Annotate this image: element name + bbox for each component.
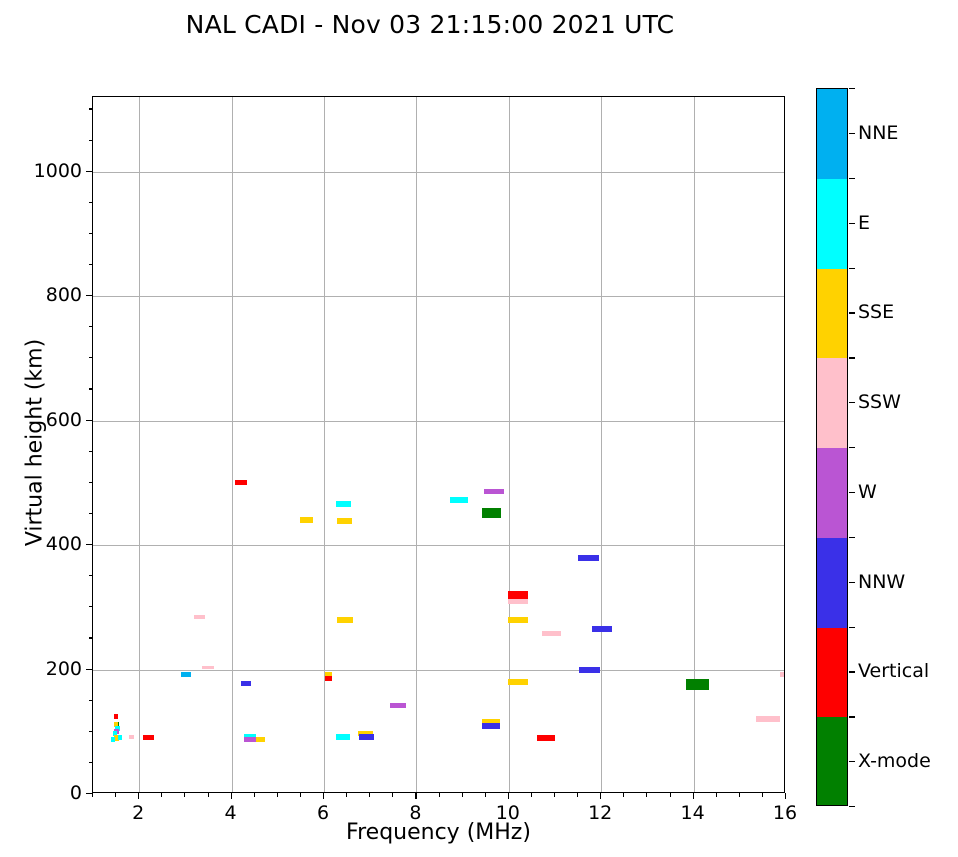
gridline-horizontal bbox=[93, 421, 784, 422]
data-marker bbox=[482, 723, 500, 729]
data-marker bbox=[241, 681, 251, 686]
data-marker bbox=[244, 737, 256, 742]
colorbar-tick-mid bbox=[849, 223, 855, 224]
data-marker bbox=[578, 555, 599, 561]
colorbar-segment-vertical[interactable] bbox=[817, 628, 847, 718]
x-tick-minor bbox=[577, 793, 578, 797]
colorbar-tick bbox=[849, 268, 855, 269]
data-marker bbox=[118, 735, 122, 740]
colorbar-segment-nne[interactable] bbox=[817, 89, 847, 179]
colorbar-label-e: E bbox=[858, 212, 870, 234]
data-marker bbox=[194, 615, 205, 619]
data-marker bbox=[111, 737, 115, 742]
y-tick-minor bbox=[89, 108, 93, 109]
data-marker bbox=[325, 676, 332, 681]
x-tick-major bbox=[693, 793, 694, 799]
x-tick-minor bbox=[646, 793, 647, 797]
colorbar-tick-mid bbox=[849, 492, 855, 493]
x-tick-minor bbox=[485, 793, 486, 797]
x-tick-major bbox=[600, 793, 601, 799]
x-tick-minor bbox=[254, 793, 255, 797]
gridline-horizontal bbox=[93, 545, 784, 546]
colorbar-tick bbox=[849, 88, 855, 89]
plot-axes bbox=[92, 96, 785, 793]
y-tick-label: 0 bbox=[12, 782, 82, 804]
colorbar-tick bbox=[849, 716, 855, 717]
y-tick-minor bbox=[89, 700, 93, 701]
y-tick-major bbox=[86, 669, 92, 670]
gridline-vertical bbox=[324, 97, 325, 792]
x-tick-major bbox=[415, 793, 416, 799]
gridline-horizontal bbox=[93, 670, 784, 671]
colorbar-label-ssw: SSW bbox=[858, 391, 901, 413]
x-tick-minor bbox=[161, 793, 162, 797]
y-tick-minor bbox=[89, 202, 93, 203]
y-tick-minor bbox=[89, 606, 93, 607]
data-marker bbox=[181, 672, 191, 677]
data-marker bbox=[202, 666, 214, 669]
data-marker bbox=[508, 679, 527, 685]
colorbar-label-vertical: Vertical bbox=[858, 660, 929, 682]
x-tick-minor bbox=[623, 793, 624, 797]
data-marker bbox=[337, 518, 352, 524]
gridline-vertical bbox=[509, 97, 510, 792]
colorbar-tick bbox=[849, 357, 855, 358]
colorbar-segment-w[interactable] bbox=[817, 448, 847, 538]
gridline-vertical bbox=[601, 97, 602, 792]
data-marker bbox=[482, 508, 501, 518]
colorbar-label-w: W bbox=[858, 481, 877, 503]
data-marker bbox=[756, 716, 780, 722]
y-tick-label: 800 bbox=[12, 284, 82, 306]
colorbar-tick bbox=[849, 627, 855, 628]
colorbar-label-nnw: NNW bbox=[858, 571, 905, 593]
data-marker bbox=[508, 617, 527, 623]
gridline-vertical bbox=[139, 97, 140, 792]
data-marker bbox=[390, 703, 407, 708]
y-tick-minor bbox=[89, 140, 93, 141]
data-marker bbox=[450, 497, 468, 503]
data-marker bbox=[537, 735, 555, 741]
x-tick-major bbox=[785, 793, 786, 799]
data-marker bbox=[337, 617, 353, 623]
y-tick-minor bbox=[89, 264, 93, 265]
x-tick-minor bbox=[762, 793, 763, 797]
data-marker bbox=[686, 684, 709, 690]
colorbar-tick bbox=[849, 178, 855, 179]
x-tick-minor bbox=[716, 793, 717, 797]
y-tick-minor bbox=[89, 482, 93, 483]
x-tick-major bbox=[138, 793, 139, 799]
gridline-vertical bbox=[232, 97, 233, 792]
x-tick-major bbox=[323, 793, 324, 799]
colorbar-label-sse: SSE bbox=[858, 301, 894, 323]
y-tick-minor bbox=[89, 637, 93, 638]
data-marker bbox=[336, 734, 350, 740]
y-tick-minor bbox=[89, 451, 93, 452]
plot-area bbox=[93, 97, 784, 792]
data-marker bbox=[592, 626, 612, 632]
data-marker bbox=[484, 489, 503, 494]
data-marker bbox=[780, 672, 784, 677]
colorbar-tick bbox=[849, 537, 855, 538]
y-tick-minor bbox=[89, 233, 93, 234]
y-tick-major bbox=[86, 420, 92, 421]
x-tick-major bbox=[508, 793, 509, 799]
y-tick-minor bbox=[89, 388, 93, 389]
data-marker bbox=[300, 517, 314, 523]
x-tick-minor bbox=[115, 793, 116, 797]
data-marker bbox=[129, 735, 134, 739]
data-marker bbox=[256, 737, 265, 742]
colorbar-tick-mid bbox=[849, 312, 855, 313]
data-marker bbox=[542, 631, 561, 636]
colorbar-segment-e[interactable] bbox=[817, 179, 847, 269]
colorbar-tick-mid bbox=[849, 133, 855, 134]
colorbar-segment-x-mode[interactable] bbox=[817, 717, 847, 806]
x-tick-minor bbox=[92, 793, 93, 797]
data-marker bbox=[336, 501, 351, 507]
x-tick-minor bbox=[277, 793, 278, 797]
x-tick-minor bbox=[739, 793, 740, 797]
gridline-vertical bbox=[416, 97, 417, 792]
gridline-horizontal bbox=[93, 296, 784, 297]
y-tick-minor bbox=[89, 762, 93, 763]
x-tick-minor bbox=[439, 793, 440, 797]
colorbar-tick-mid bbox=[849, 402, 855, 403]
colorbar-segment-ssw[interactable] bbox=[817, 358, 847, 448]
y-tick-minor bbox=[89, 326, 93, 327]
colorbar-tick bbox=[849, 806, 855, 807]
y-tick-label: 1000 bbox=[12, 160, 82, 182]
x-tick-minor bbox=[184, 793, 185, 797]
colorbar-segment-nnw[interactable] bbox=[817, 538, 847, 628]
x-tick-minor bbox=[208, 793, 209, 797]
x-tick-minor bbox=[369, 793, 370, 797]
y-axis-label: Virtual height (km) bbox=[23, 313, 48, 573]
data-marker bbox=[114, 714, 119, 719]
y-tick-minor bbox=[89, 575, 93, 576]
data-marker bbox=[508, 599, 527, 604]
y-tick-major bbox=[86, 171, 92, 172]
colorbar[interactable] bbox=[816, 88, 848, 806]
data-marker bbox=[579, 667, 600, 673]
colorbar-tick-mid bbox=[849, 582, 855, 583]
x-tick-minor bbox=[392, 793, 393, 797]
colorbar-tick-mid bbox=[849, 671, 855, 672]
colorbar-label-nne: NNE bbox=[858, 122, 898, 144]
y-tick-major bbox=[86, 793, 92, 794]
gridline-horizontal bbox=[93, 172, 784, 173]
y-tick-major bbox=[86, 295, 92, 296]
y-tick-label: 200 bbox=[12, 658, 82, 680]
x-axis-label: Frequency (MHz) bbox=[92, 820, 785, 845]
y-tick-minor bbox=[89, 513, 93, 514]
x-tick-minor bbox=[346, 793, 347, 797]
page-title: NAL CADI - Nov 03 21:15:00 2021 UTC bbox=[0, 10, 860, 39]
colorbar-segment-sse[interactable] bbox=[817, 269, 847, 359]
x-tick-minor bbox=[670, 793, 671, 797]
x-tick-minor bbox=[554, 793, 555, 797]
data-marker bbox=[359, 734, 374, 740]
colorbar-tick-mid bbox=[849, 761, 855, 762]
y-tick-minor bbox=[89, 731, 93, 732]
data-marker bbox=[143, 735, 153, 740]
x-tick-minor bbox=[300, 793, 301, 797]
x-tick-minor bbox=[531, 793, 532, 797]
x-tick-major bbox=[231, 793, 232, 799]
colorbar-label-x-mode: X-mode bbox=[858, 750, 931, 772]
x-tick-minor bbox=[462, 793, 463, 797]
y-tick-minor bbox=[89, 357, 93, 358]
colorbar-tick bbox=[849, 447, 855, 448]
y-tick-major bbox=[86, 544, 92, 545]
ionogram-figure: NAL CADI - Nov 03 21:15:00 2021 UTC 2468… bbox=[0, 0, 958, 857]
data-marker bbox=[235, 480, 247, 485]
